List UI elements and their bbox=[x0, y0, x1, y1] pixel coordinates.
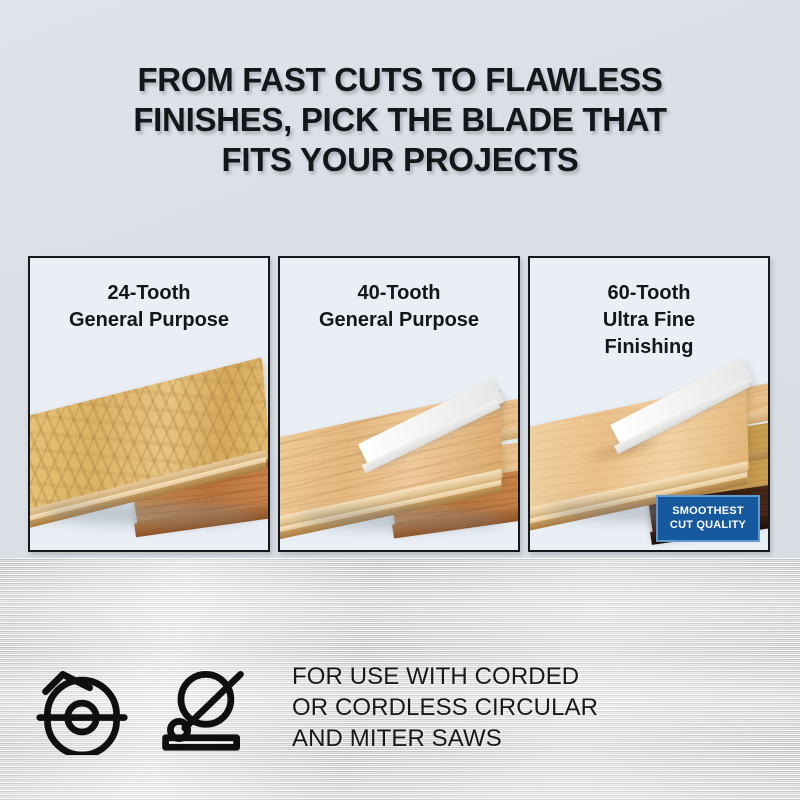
badge-line-2: CUT QUALITY bbox=[668, 518, 748, 532]
card-40-tooth[interactable]: 40-Tooth General Purpose bbox=[278, 256, 520, 552]
card-24-tooth[interactable]: 24-Tooth General Purpose bbox=[28, 256, 270, 552]
card-title-line-2: General Purpose bbox=[40, 307, 258, 334]
miter-saw-icon bbox=[156, 659, 252, 755]
card-title: 24-Tooth General Purpose bbox=[40, 280, 258, 334]
circular-saw-icon bbox=[34, 659, 130, 755]
card-title-line-1: 24-Tooth bbox=[40, 280, 258, 307]
card-title: 60-Tooth Ultra Fine Finishing bbox=[540, 280, 758, 361]
status-badge: SMOOTHEST CUT QUALITY bbox=[656, 495, 760, 542]
headline-line-2: FINISHES, PICK THE BLADE THAT bbox=[60, 100, 740, 140]
usage-line-1: FOR USE WITH CORDED bbox=[292, 661, 598, 692]
compatibility-row: FOR USE WITH CORDED OR CORDLESS CIRCULAR… bbox=[34, 648, 764, 766]
compatibility-text: FOR USE WITH CORDED OR CORDLESS CIRCULAR… bbox=[292, 661, 598, 754]
page-headline: FROM FAST CUTS TO FLAWLESS FINISHES, PIC… bbox=[60, 60, 740, 180]
badge-line-1: SMOOTHEST bbox=[668, 504, 748, 518]
headline-line-3: FITS YOUR PROJECTS bbox=[60, 140, 740, 180]
usage-line-3: AND MITER SAWS bbox=[292, 723, 598, 754]
card-title-line-2: Ultra Fine bbox=[540, 307, 758, 334]
blade-option-cards: 24-Tooth General Purpose 40-Toot bbox=[28, 256, 772, 552]
card-title: 40-Tooth General Purpose bbox=[290, 280, 508, 334]
card-60-tooth[interactable]: 60-Tooth Ultra Fine Finishing bbox=[528, 256, 770, 552]
card-title-line-1: 60-Tooth bbox=[540, 280, 758, 307]
usage-line-2: OR CORDLESS CIRCULAR bbox=[292, 692, 598, 723]
infographic-page: FROM FAST CUTS TO FLAWLESS FINISHES, PIC… bbox=[0, 0, 800, 800]
card-title-line-2: General Purpose bbox=[290, 307, 508, 334]
headline-line-1: FROM FAST CUTS TO FLAWLESS bbox=[60, 60, 740, 100]
card-title-line-1: 40-Tooth bbox=[290, 280, 508, 307]
card-title-line-3: Finishing bbox=[540, 334, 758, 361]
